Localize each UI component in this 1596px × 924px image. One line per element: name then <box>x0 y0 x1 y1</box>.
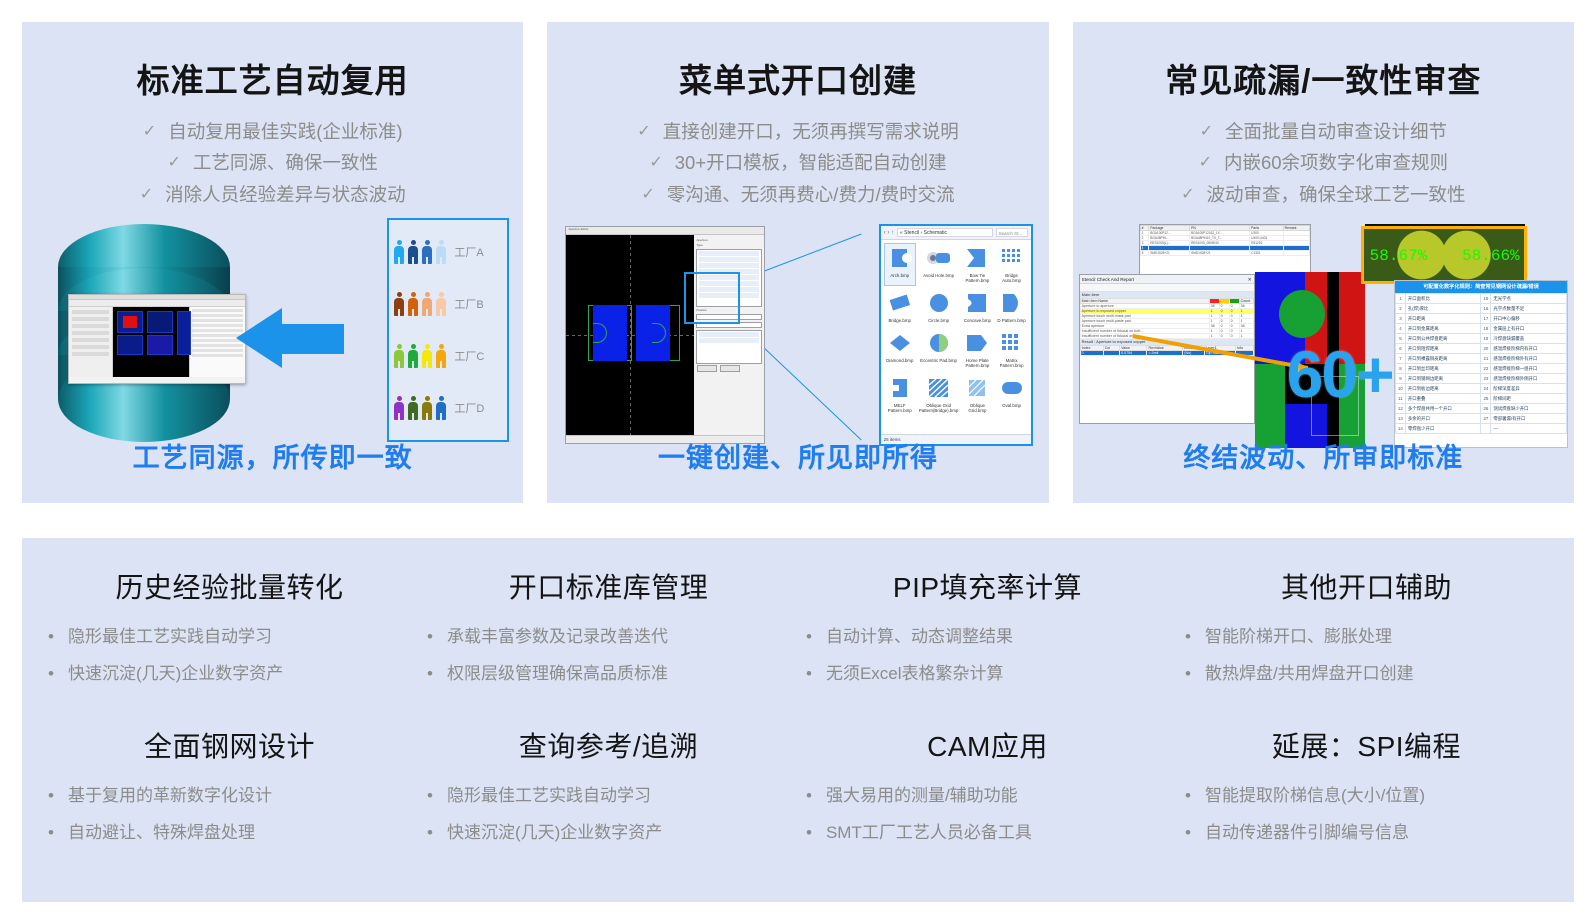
rules-count-badge: 60+ <box>1287 336 1393 412</box>
card-bullet-list: ✓ 自动复用最佳实践(企业标准) ✓ 工艺同源、确保一致性 ✓ 消除人员经验差异… <box>22 122 523 205</box>
bullet-text: 消除人员经验差异与状态波动 <box>165 185 406 205</box>
bullet-dot-icon: • <box>48 628 54 647</box>
capability-full-stencil-design: 全面钢网设计 •基于复用的革新数字化设计 •自动避让、特殊焊盘处理 <box>40 725 419 860</box>
person-icon <box>393 292 405 316</box>
template-tile[interactable]: Diamond.bmp <box>884 328 916 371</box>
close-icon[interactable]: ✕ <box>1248 275 1252 283</box>
tile-label: MELF Pattern.bmp <box>885 402 915 415</box>
card-menu-aperture-creation: 菜单式开口创建 ✓ 直接创建开口，无须再撰写需求说明 ✓ 30+开口模板，智能适… <box>547 22 1048 503</box>
stencil-check-report-window: Stencil Check And Report ✕ Main Item Mai… <box>1079 274 1255 424</box>
rule-row: 7开口到裸露铜皮距离21感温焊接阶梯外有开口 <box>1395 354 1566 364</box>
package-table: # Package PN Parts Remark 1BGA100P12...B… <box>1140 225 1310 256</box>
person-icon <box>421 344 433 368</box>
bullet-text: 零沟通、无须再费心/费力/费时交流 <box>667 185 955 205</box>
person-icon <box>435 344 447 368</box>
check-icon: ✓ <box>1199 153 1212 173</box>
list-item: •无须Excel表格繁杂计算 <box>806 665 1169 684</box>
capability-history-conversion: 历史经验批量转化 •隐形最佳工艺实践自动学习 •快速沉淀(几天)企业数字资产 <box>40 566 419 701</box>
bullet-item: ✓ 内嵌60余项数字化审查规则 <box>1199 153 1449 173</box>
coords-listbox[interactable] <box>696 330 762 364</box>
feature-cards-row: 标准工艺自动复用 ✓ 自动复用最佳实践(企业标准) ✓ 工艺同源、确保一致性 ✓… <box>22 22 1574 503</box>
list-item: •自动传递器件引脚编号信息 <box>1185 824 1548 843</box>
left-arrow-icon <box>236 308 344 368</box>
bullet-dot-icon: • <box>806 787 812 806</box>
card-common-omission-review: 常见疏漏/一致性审查 ✓ 全面批量自动审查设计细节 ✓ 内嵌60余项数字化审查规… <box>1073 22 1574 503</box>
capability-spi-programming: 延展：SPI编程 •智能提取阶梯信息(大小/位置) •自动传递器件引脚编号信息 <box>1177 725 1556 860</box>
bullet-item: ✓ 零沟通、无须再费心/费力/费时交流 <box>641 185 954 205</box>
tile-label: Diamond.bmp <box>885 357 915 365</box>
cad-right-panel: Aperture Type Position <box>694 235 764 435</box>
factory-row: 工厂C <box>393 344 503 368</box>
list-item: •散热焊盘/共用焊盘开口创建 <box>1185 665 1548 684</box>
list-item: •隐形最佳工艺实践自动学习 <box>427 787 790 806</box>
bullet-dot-icon: • <box>48 824 54 843</box>
list-item-text: 智能阶梯开口、膨胀处理 <box>1205 628 1392 647</box>
list-item: •快速沉淀(几天)企业数字资产 <box>48 665 411 684</box>
capabilities-panel: 历史经验批量转化 •隐形最佳工艺实践自动学习 •快速沉淀(几天)企业数字资产 开… <box>22 538 1574 902</box>
tile-label: D Pattern.bmp <box>997 317 1027 325</box>
bullet-dot-icon: • <box>48 665 54 684</box>
card-caption: 终结波动、所审即标准 <box>1073 436 1574 475</box>
person-icon <box>407 344 419 368</box>
card-caption: 工艺同源，所传即一致 <box>22 436 523 475</box>
list-item: •权限层级管理确保高品质标准 <box>427 665 790 684</box>
bullet-item: ✓ 自动复用最佳实践(企业标准) <box>143 122 403 142</box>
bullet-dot-icon: • <box>1185 824 1191 843</box>
template-tile[interactable]: Eccentric Pad.bmp <box>918 328 960 371</box>
check-icon: ✓ <box>1200 122 1213 142</box>
list-item-text: 基于复用的革新数字化设计 <box>68 787 272 806</box>
capability-title: 开口标准库管理 <box>427 566 790 606</box>
template-tile[interactable]: Matrix Pattern.bmp <box>996 328 1028 371</box>
bullet-dot-icon: • <box>427 787 433 806</box>
capability-title: 查询参考/追溯 <box>427 725 790 765</box>
template-tile[interactable]: D Pattern.bmp <box>996 288 1028 326</box>
bullet-dot-icon: • <box>48 787 54 806</box>
bullet-text: 全面批量自动审查设计细节 <box>1225 122 1447 142</box>
list-item-text: SMT工厂工艺人员必备工具 <box>826 824 1032 843</box>
bullet-dot-icon: • <box>427 824 433 843</box>
bullet-dot-icon: • <box>1185 628 1191 647</box>
design-review-illustration: # Package PN Parts Remark 1BGA100P12...B… <box>1073 218 1574 454</box>
result-table: Index Col Value RevValue Info1 Layer1 In… <box>1080 345 1254 356</box>
rule-row: 14零焊盘少开口— <box>1395 424 1566 434</box>
capability-list: •隐形最佳工艺实践自动学习 •快速沉淀(几天)企业数字资产 <box>48 628 411 683</box>
check-icon: ✓ <box>167 153 180 173</box>
list-item: •自动避让、特殊焊盘处理 <box>48 824 411 843</box>
template-tile[interactable]: Avoid Hole.bmp <box>918 243 960 286</box>
capability-list: •自动计算、动态调整结果 •无须Excel表格繁杂计算 <box>806 628 1169 683</box>
factory-label: 工厂D <box>454 400 484 416</box>
bullet-text: 波动审查，确保全球工艺一致性 <box>1207 185 1466 205</box>
factory-row: 工厂B <box>393 292 503 316</box>
digital-rules-table: 可配置化数字化规则：简查常见钢网设计疏漏/错误 1开口面积比15无光学点 2孔(… <box>1394 280 1568 448</box>
bullet-text: 自动复用最佳实践(企业标准) <box>168 122 402 142</box>
rules-list: 1开口面积比15无光学点 2孔(焊)厚比16光学点数量不足 3开口距离17开口中… <box>1395 293 1567 434</box>
list-item: •快速沉淀(几天)企业数字资产 <box>427 824 790 843</box>
check-icon: ✓ <box>637 122 650 142</box>
capability-cam-application: CAM应用 •强大易用的测量/辅助功能 •SMT工厂工艺人员必备工具 <box>798 725 1177 860</box>
list-item-text: 自动传递器件引脚编号信息 <box>1205 824 1409 843</box>
capability-title: 历史经验批量转化 <box>48 566 411 606</box>
check-items-table: Main Item Name Count Aperture to apertur… <box>1080 298 1254 339</box>
tile-label: Oblique Grid.bmp <box>962 402 992 415</box>
bullet-dot-icon: • <box>1185 665 1191 684</box>
check-icon: ✓ <box>649 153 662 173</box>
bullet-dot-icon: • <box>427 665 433 684</box>
rule-row: 1开口面积比15无光学点 <box>1395 294 1566 304</box>
card-bullet-list: ✓ 全面批量自动审查设计细节 ✓ 内嵌60余项数字化审查规则 ✓ 波动审查，确保… <box>1073 122 1574 205</box>
list-item: •SMT工厂工艺人员必备工具 <box>806 824 1169 843</box>
bullet-item: ✓ 30+开口模板，智能适配自动创建 <box>649 153 946 173</box>
bullet-item: ✓ 波动审查，确保全球工艺一致性 <box>1181 185 1465 205</box>
tile-label: Arch.bmp <box>885 272 915 280</box>
breadcrumb[interactable]: « Stencil › Schematic <box>897 228 993 237</box>
bullet-dot-icon: • <box>1185 787 1191 806</box>
card-caption: 一键创建、所见即所得 <box>547 436 1048 475</box>
back-icon[interactable]: ‹ › ↑ <box>884 230 894 236</box>
window-titlebar: Stencil Check And Report ✕ <box>1080 275 1254 284</box>
template-tile[interactable]: Home Plate Pattern.bmp <box>961 328 993 371</box>
template-tile[interactable]: Oblique Grid.bmp <box>961 373 993 416</box>
bullet-item: ✓ 直接创建开口，无须再撰写需求说明 <box>637 122 958 142</box>
rules-header: 可配置化数字化规则：简查常见钢网设计疏漏/错误 <box>1395 281 1567 293</box>
bullet-text: 30+开口模板，智能适配自动创建 <box>675 153 947 173</box>
capability-list: •承载丰富参数及记录改善迭代 •权限层级管理确保高品质标准 <box>427 628 790 683</box>
tile-label: Bridge.bmp <box>885 317 915 325</box>
cad-aperture-editor-window: Aperture Editor Aperture <box>565 226 765 444</box>
factory-row: 工厂A <box>393 240 503 264</box>
template-tile[interactable]: MELF Pattern.bmp <box>884 373 916 416</box>
list-item: •强大易用的测量/辅助功能 <box>806 787 1169 806</box>
card-title: 菜单式开口创建 <box>547 54 1048 102</box>
check-icon: ✓ <box>641 185 654 205</box>
bullet-dot-icon: • <box>427 628 433 647</box>
template-tile[interactable]: Oblique Grid Pattern(Bridge).bmp <box>918 373 960 416</box>
rule-row: 11开口重叠25阶梯间距 <box>1395 394 1566 404</box>
cad-canvas <box>566 235 694 435</box>
template-tile[interactable]: Oval.bmp <box>996 373 1028 416</box>
card-bullet-list: ✓ 直接创建开口，无须再撰写需求说明 ✓ 30+开口模板，智能适配自动创建 ✓ … <box>547 122 1048 205</box>
capabilities-row-2: 全面钢网设计 •基于复用的革新数字化设计 •自动避让、特殊焊盘处理 查询参考/追… <box>40 725 1556 860</box>
list-item-text: 强大易用的测量/辅助功能 <box>826 787 1018 806</box>
list-item-text: 承载丰富参数及记录改善迭代 <box>447 628 668 647</box>
list-item: •基于复用的革新数字化设计 <box>48 787 411 806</box>
person-icon <box>421 396 433 420</box>
list-item-text: 隐形最佳工艺实践自动学习 <box>68 628 272 647</box>
rule-row: 2孔(焊)厚比16光学点数量不足 <box>1395 304 1566 314</box>
rule-row: 5开口到公共焊盘距离19冷焊盘缺漏覆盖 <box>1395 334 1566 344</box>
card-title: 常见疏漏/一致性审查 <box>1073 54 1574 102</box>
bullet-dot-icon: • <box>806 628 812 647</box>
person-icon <box>435 396 447 420</box>
explorer-toolbar: ‹ › ↑ « Stencil › Schematic Search St... <box>881 226 1031 240</box>
capability-query-traceability: 查询参考/追溯 •隐形最佳工艺实践自动学习 •快速沉淀(几天)企业数字资产 <box>419 725 798 860</box>
person-icon <box>421 240 433 264</box>
rule-row: 6开口到阻焊距离20感温焊接阶梯内有开口 <box>1395 344 1566 354</box>
template-tile[interactable]: Arch.bmp <box>884 243 916 286</box>
database-reuse-illustration: 工厂A 工厂B 工厂C <box>22 218 523 448</box>
capability-title: CAM应用 <box>806 725 1169 765</box>
factory-label: 工厂B <box>454 296 483 312</box>
person-icon <box>435 292 447 316</box>
bullet-dot-icon: • <box>806 824 812 843</box>
list-item-text: 快速沉淀(几天)企业数字资产 <box>447 824 662 843</box>
rule-row: 12多个焊盘共用一个开口26测试焊盘缺少开口 <box>1395 404 1566 414</box>
list-item: •自动计算、动态调整结果 <box>806 628 1169 647</box>
bullet-text: 直接创建开口，无须再撰写需求说明 <box>663 122 959 142</box>
capability-list: •强大易用的测量/辅助功能 •SMT工厂工艺人员必备工具 <box>806 787 1169 842</box>
list-item-text: 隐形最佳工艺实践自动学习 <box>447 787 651 806</box>
capability-list: •智能提取阶梯信息(大小/位置) •自动传递器件引脚编号信息 <box>1185 787 1548 842</box>
list-item-text: 自动计算、动态调整结果 <box>826 628 1013 647</box>
capability-aperture-library: 开口标准库管理 •承载丰富参数及记录改善迭代 •权限层级管理确保高品质标准 <box>419 566 798 701</box>
rule-row: 3开口距离17开口中心偏移 <box>1395 314 1566 324</box>
tile-label: Concave.bmp <box>962 317 992 325</box>
factory-row: 工厂D <box>393 396 503 420</box>
list-item-text: 自动避让、特殊焊盘处理 <box>68 824 255 843</box>
template-tile[interactable]: Circle.bmp <box>918 288 960 326</box>
list-item: •智能提取阶梯信息(大小/位置) <box>1185 787 1548 806</box>
capability-title: 延展：SPI编程 <box>1185 725 1548 765</box>
search-input[interactable]: Search St... <box>996 228 1028 237</box>
fill-rate-panel: 58.67% 58.66% <box>1361 226 1527 284</box>
capability-title: 其他开口辅助 <box>1185 566 1548 606</box>
capability-list: •基于复用的革新数字化设计 •自动避让、特殊焊盘处理 <box>48 787 411 842</box>
card-title: 标准工艺自动复用 <box>22 54 523 102</box>
tile-label: Eccentric Pad.bmp <box>919 357 959 365</box>
cancel-button[interactable] <box>720 365 740 372</box>
template-list-highlight <box>684 272 740 324</box>
person-icon <box>393 240 405 264</box>
bullet-item: ✓ 工艺同源、确保一致性 <box>167 153 377 173</box>
table-row[interactable]: Insufficient number of fiducial on top .… <box>1080 334 1253 339</box>
bullet-text: 内嵌60余项数字化审查规则 <box>1224 153 1448 173</box>
template-tile[interactable]: Bridge.bmp <box>884 288 916 326</box>
person-icon <box>407 292 419 316</box>
list-item-text: 快速沉淀(几天)企业数字资产 <box>68 665 283 684</box>
tile-label: Oval.bmp <box>997 402 1027 410</box>
person-icon <box>421 292 433 316</box>
infographic-page: 标准工艺自动复用 ✓ 自动复用最佳实践(企业标准) ✓ 工艺同源、确保一致性 ✓… <box>0 0 1596 924</box>
tile-label: Matrix Pattern.bmp <box>997 357 1027 370</box>
report-toolbar[interactable] <box>1080 284 1254 292</box>
capabilities-row-1: 历史经验批量转化 •隐形最佳工艺实践自动学习 •快速沉淀(几天)企业数字资产 开… <box>40 566 1556 701</box>
person-icon <box>393 344 405 368</box>
card-standard-process-reuse: 标准工艺自动复用 ✓ 自动复用最佳实践(企业标准) ✓ 工艺同源、确保一致性 ✓… <box>22 22 523 503</box>
check-icon: ✓ <box>1181 185 1194 205</box>
cad-software-thumbnail <box>68 294 246 384</box>
tile-label: Bridge Auto.bmp <box>997 272 1027 285</box>
list-item: •承载丰富参数及记录改善迭代 <box>427 628 790 647</box>
rule-row: 4开口到金属距离18金属层上有开口 <box>1395 324 1566 334</box>
check-icon: ✓ <box>143 122 156 142</box>
capability-list: •隐形最佳工艺实践自动学习 •快速沉淀(几天)企业数字资产 <box>427 787 790 842</box>
template-tile[interactable]: Bridge Auto.bmp <box>996 243 1028 286</box>
list-item-text: 无须Excel表格繁杂计算 <box>826 665 1004 684</box>
factory-label: 工厂C <box>454 348 484 364</box>
list-item: •智能阶梯开口、膨胀处理 <box>1185 628 1548 647</box>
bullet-item: ✓ 全面批量自动审查设计细节 <box>1200 122 1447 142</box>
bullet-item: ✓ 消除人员经验差异与状态波动 <box>140 185 406 205</box>
tile-label: Circle.bmp <box>919 317 959 325</box>
fill-rate-right: 58.66% <box>1462 247 1520 265</box>
stencil-template-browser: ‹ › ↑ « Stencil › Schematic Search St...… <box>879 224 1033 446</box>
person-icon <box>407 240 419 264</box>
person-icon <box>407 396 419 420</box>
apply-button[interactable] <box>697 365 717 372</box>
capability-other-aperture-aids: 其他开口辅助 •智能阶梯开口、膨胀处理 •散热焊盘/共用焊盘开口创建 <box>1177 566 1556 701</box>
window-titlebar: Aperture Editor <box>566 227 764 235</box>
factory-label: 工厂A <box>454 244 483 260</box>
fill-rate-left: 58.67% <box>1370 247 1428 265</box>
capability-pip-fill-rate: PIP填充率计算 •自动计算、动态调整结果 •无须Excel表格繁杂计算 <box>798 566 1177 701</box>
capability-title: 全面钢网设计 <box>48 725 411 765</box>
check-icon: ✓ <box>140 185 153 205</box>
bullet-dot-icon: • <box>806 665 812 684</box>
table-row-selected[interactable]: 0 0.0754<-0mil (No)Top Site <box>1080 351 1253 356</box>
person-icon <box>393 396 405 420</box>
rule-row: 10开口到板边距离24阶梯深度差异 <box>1395 384 1566 394</box>
tile-label: Oblique Grid Pattern(Bridge).bmp <box>919 402 959 415</box>
table-row[interactable]: 5SMD1528+21SMD1528+21C1301 <box>1140 251 1309 256</box>
rule-row: 13多余的开口27零部署漏/有开口 <box>1395 414 1566 424</box>
capability-title: PIP填充率计算 <box>806 566 1169 606</box>
bullet-text: 工艺同源、确保一致性 <box>193 153 378 173</box>
template-tile[interactable]: Concave.bmp <box>961 288 993 326</box>
list-item-text: 智能提取阶梯信息(大小/位置) <box>1205 787 1425 806</box>
list-item-text: 散热焊盘/共用焊盘开口创建 <box>1205 665 1414 684</box>
tile-label: Home Plate Pattern.bmp <box>962 357 992 370</box>
factory-people-panel: 工厂A 工厂B 工厂C <box>387 218 509 442</box>
list-item-text: 权限层级管理确保高品质标准 <box>447 665 668 684</box>
tile-label: Bow Tie Pattern.bmp <box>962 272 992 285</box>
template-tile-grid: Arch.bmp Avoid Hole.bmp Bow Tie Pattern.… <box>881 240 1031 419</box>
template-tile[interactable]: Bow Tie Pattern.bmp <box>961 243 993 286</box>
window-title: Stencil Check And Report <box>1082 275 1134 283</box>
list-item: •隐形最佳工艺实践自动学习 <box>48 628 411 647</box>
person-icon <box>435 240 447 264</box>
capability-list: •智能阶梯开口、膨胀处理 •散热焊盘/共用焊盘开口创建 <box>1185 628 1548 683</box>
tile-label: Avoid Hole.bmp <box>919 272 959 280</box>
rule-row: 9开口到钢网边距离23感温焊接阶梯外侧开口 <box>1395 374 1566 384</box>
rule-row: 8开口到丝印距离22感温焊接阶梯一组开口 <box>1395 364 1566 374</box>
aperture-creation-illustration: Aperture Editor Aperture <box>547 218 1048 454</box>
